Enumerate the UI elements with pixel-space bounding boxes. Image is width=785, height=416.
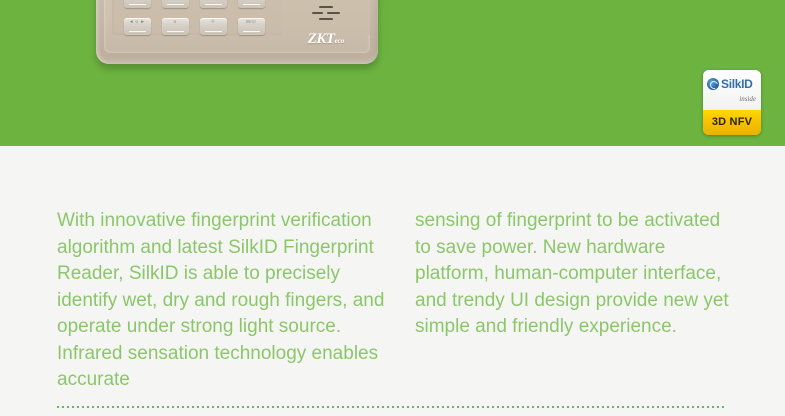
device-keypad: 1 2 ABC 3 DEF ESC: [118, 0, 270, 40]
keypad-key-underline: [129, 31, 146, 32]
keypad-key: 8 TUV: [162, 0, 189, 8]
keypad-key-underline: [205, 31, 222, 32]
device-right-panel: ZKTeco: [282, 0, 370, 35]
zkteco-logo-main: ZKT: [308, 31, 335, 47]
keypad-key-underline: [243, 4, 260, 5]
keypad-key-underline: [167, 4, 184, 5]
keypad-key-underline: [167, 31, 184, 32]
description-paragraph-right: sensing of fingerprint to be activated t…: [415, 208, 740, 341]
silkid-inside-badge: SilkID inside 3D NFV: [703, 70, 761, 135]
description-paragraph-left: With innovative fingerprint verification…: [57, 208, 387, 394]
grille-bar: [312, 12, 323, 14]
keypad-key: #: [200, 18, 227, 35]
device-keypad-panel: 1 2 ABC 3 DEF ESC: [112, 0, 290, 35]
zkteco-logo-suffix: eco: [335, 37, 345, 45]
badge-logo-row: SilkID: [707, 78, 753, 90]
keypad-key: 9 WXYZ: [200, 0, 227, 8]
keypad-key-label: ◄ 0 ►: [124, 20, 151, 25]
keypad-key-underline: [243, 31, 260, 32]
keypad-key-label: #: [200, 20, 227, 25]
silkid-swirl-icon: [707, 78, 719, 90]
badge-bottom-section: 3D NFV: [703, 110, 761, 135]
zkteco-device: 1 2 ABC 3 DEF ESC: [96, 0, 378, 64]
product-feature-page: 1 2 ABC 3 DEF ESC: [0, 0, 785, 416]
speaker-grille-icon: [312, 6, 340, 24]
zkteco-brand-logo: ZKTeco: [308, 32, 345, 49]
grille-bar: [319, 6, 333, 8]
keypad-key: ◄ 0 ►: [124, 18, 151, 35]
keypad-key: 0: [162, 18, 189, 35]
grille-bar: [319, 18, 333, 20]
description-column-left: With innovative fingerprint verification…: [57, 208, 387, 394]
description-column-right: sensing of fingerprint to be activated t…: [415, 208, 740, 341]
device-bezel: 1 2 ABC 3 DEF ESC: [104, 0, 370, 53]
silkid-brand-label: SilkID: [721, 78, 753, 90]
badge-top-section: SilkID inside: [703, 70, 761, 110]
keypad-key: M/⊙: [238, 18, 265, 35]
keypad-key: ▲: [238, 0, 265, 8]
badge-feature-label: 3D NFV: [712, 117, 752, 128]
dotted-divider: [57, 406, 727, 408]
keypad-key-underline: [129, 4, 146, 5]
feature-description: With innovative fingerprint verification…: [0, 146, 785, 416]
badge-inside-label: inside: [739, 95, 756, 103]
keypad-key-label: M/⊙: [238, 20, 265, 25]
hero-banner: 1 2 ABC 3 DEF ESC: [0, 0, 785, 146]
keypad-key-underline: [205, 4, 222, 5]
grille-bar: [327, 12, 340, 14]
keypad-key: 7 PQRS: [124, 0, 151, 8]
keypad-key-label: 0: [162, 20, 189, 25]
